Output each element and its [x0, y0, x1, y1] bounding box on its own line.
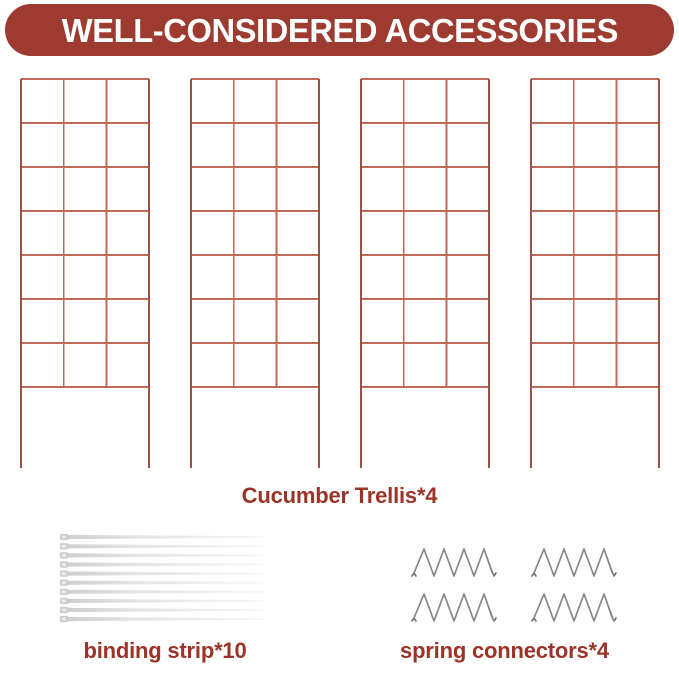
caption-cucumber-trellis: Cucumber Trellis*4 [0, 485, 679, 507]
header-banner: WELL-CONSIDERED ACCESSORIES [5, 4, 674, 56]
trellis-unit-4 [530, 78, 660, 476]
binding-strip-illustration-group [60, 532, 320, 628]
trellis-illustration-group [0, 78, 679, 476]
trellis-unit-1 [20, 78, 150, 476]
trellis-unit-3 [360, 78, 490, 476]
trellis-unit-2 [190, 78, 320, 476]
caption-spring-connectors: spring connectors*4 [330, 640, 679, 662]
spring-connector-illustration-group [398, 536, 648, 632]
caption-binding-strip: binding strip*10 [0, 640, 330, 662]
page-title: WELL-CONSIDERED ACCESSORIES [61, 14, 617, 47]
